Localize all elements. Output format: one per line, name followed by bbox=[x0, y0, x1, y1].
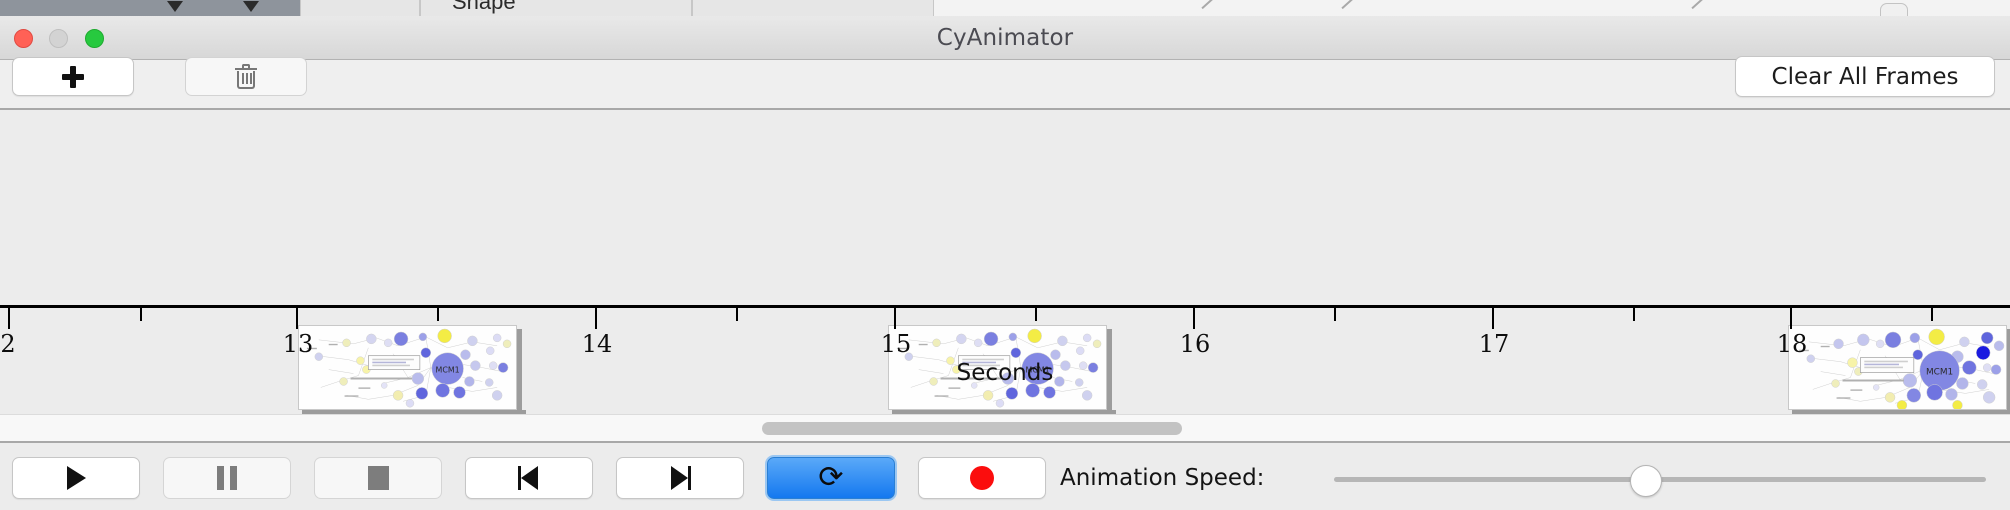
pause-button[interactable] bbox=[163, 457, 291, 499]
window-title: CyAnimator bbox=[0, 16, 2010, 60]
axis-tick-major bbox=[296, 308, 298, 329]
cyanimator-window: Shape CyAnimator Clear All Frames bbox=[0, 0, 2010, 510]
axis-tick-minor bbox=[1633, 308, 1635, 321]
axis-tick-minor bbox=[437, 308, 439, 321]
axis-tick-minor bbox=[1035, 308, 1037, 321]
horizontal-scrollbar[interactable] bbox=[0, 414, 2010, 443]
titlebar: CyAnimator bbox=[0, 16, 2010, 60]
axis-tick-major bbox=[1790, 308, 1792, 329]
background-shape-label: Shape bbox=[452, 0, 516, 15]
record-icon bbox=[970, 466, 994, 490]
skip-back-icon bbox=[518, 466, 540, 490]
axis-tick-minor bbox=[1931, 308, 1933, 321]
add-frame-button[interactable] bbox=[12, 57, 134, 96]
skip-forward-icon bbox=[669, 466, 691, 490]
axis-tick-major bbox=[894, 308, 896, 329]
skip-to-start-button[interactable] bbox=[465, 457, 593, 499]
clear-all-frames-button[interactable]: Clear All Frames bbox=[1735, 56, 1995, 97]
axis-title: Seconds bbox=[0, 360, 2010, 386]
axis-tick-label: 13 bbox=[283, 330, 314, 358]
delete-frame-button[interactable] bbox=[185, 57, 307, 96]
axis-tick-label: 14 bbox=[582, 330, 613, 358]
play-button[interactable] bbox=[12, 457, 140, 499]
timeline-panel[interactable]: MCM1 bbox=[0, 112, 2010, 414]
axis-tick-major bbox=[1193, 308, 1195, 329]
axis-tick-minor bbox=[736, 308, 738, 321]
animation-speed-label: Animation Speed: bbox=[1060, 457, 1264, 499]
axis-tick-major bbox=[595, 308, 597, 329]
plus-icon bbox=[61, 65, 85, 89]
background-slash-icon bbox=[1201, 0, 1214, 9]
background-chip bbox=[692, 0, 934, 16]
background-arrow-icon bbox=[167, 1, 183, 12]
stop-button[interactable] bbox=[314, 457, 442, 499]
animation-speed-slider-thumb[interactable] bbox=[1630, 465, 1662, 497]
background-slash-icon bbox=[1691, 0, 1704, 9]
stop-icon bbox=[368, 466, 389, 490]
skip-to-end-button[interactable] bbox=[616, 457, 744, 499]
record-button[interactable] bbox=[918, 457, 1046, 499]
timeline-axis bbox=[0, 305, 2010, 308]
pause-icon bbox=[217, 466, 237, 490]
clear-all-frames-label: Clear All Frames bbox=[1772, 64, 1959, 90]
transport-bar: ⟳ Animation Speed: bbox=[0, 445, 2010, 510]
axis-tick-label: 15 bbox=[881, 330, 912, 358]
trash-icon bbox=[235, 64, 257, 90]
axis-tick-label: 16 bbox=[1180, 330, 1211, 358]
background-rounded-panel bbox=[1880, 3, 1908, 17]
axis-tick-major bbox=[8, 308, 10, 329]
background-window-strip: Shape bbox=[0, 0, 2010, 17]
axis-tick-minor bbox=[140, 308, 142, 321]
background-slash-icon bbox=[1341, 0, 1354, 9]
axis-tick-label: 2 bbox=[0, 330, 15, 358]
loop-icon: ⟳ bbox=[818, 463, 843, 493]
axis-tick-label: 18 bbox=[1777, 330, 1808, 358]
background-chip bbox=[300, 0, 420, 16]
loop-button[interactable]: ⟳ bbox=[767, 457, 895, 499]
axis-tick-major bbox=[1492, 308, 1494, 329]
axis-tick-label: 17 bbox=[1479, 330, 1510, 358]
axis-tick-minor bbox=[1334, 308, 1336, 321]
scrollbar-thumb[interactable] bbox=[762, 422, 1182, 435]
background-arrow-icon bbox=[243, 1, 259, 12]
play-icon bbox=[67, 466, 86, 490]
